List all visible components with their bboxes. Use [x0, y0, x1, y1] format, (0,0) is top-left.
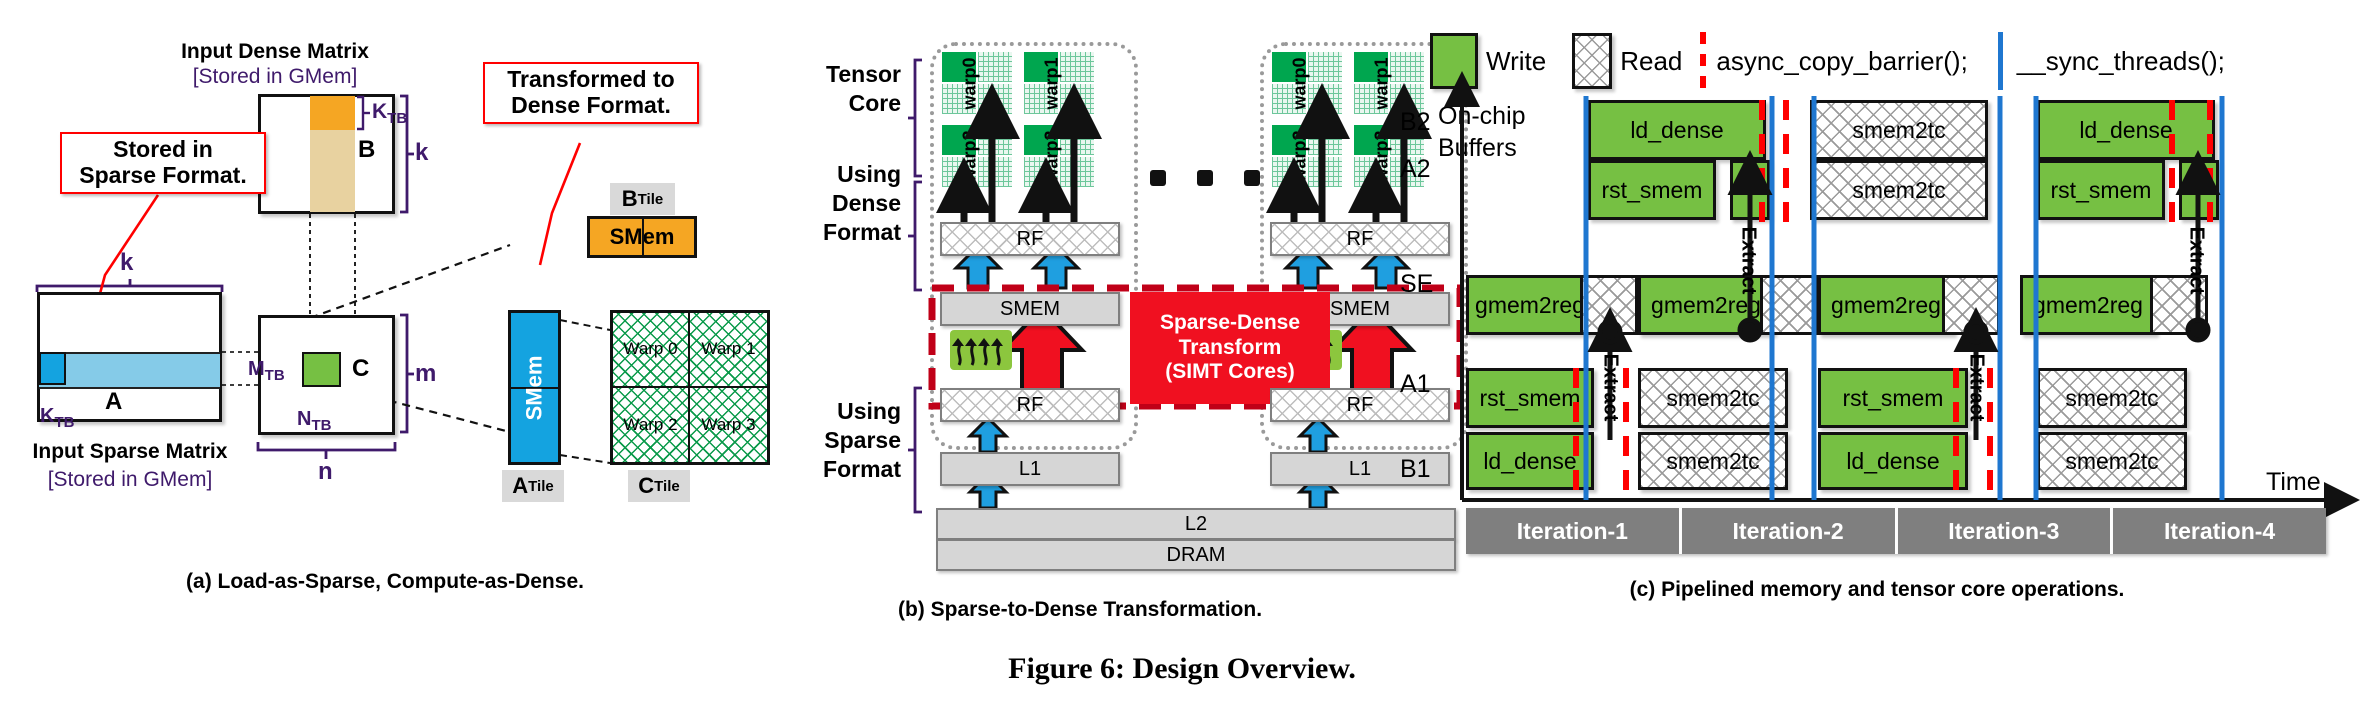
panel-c-caption: (c) Pipelined memory and tensor core ope…	[1390, 578, 2364, 602]
panel-b: TensorCore UsingDenseFormat UsingSparseF…	[770, 0, 1390, 640]
matrix-a-label: A	[105, 388, 122, 416]
panel-a: Input Dense Matrix [Stored in GMem] B	[0, 0, 770, 640]
figure-main-caption: Figure 6: Design Overview.	[0, 652, 2364, 686]
panel-a-caption: (a) Load-as-Sparse, Compute-as-Dense.	[0, 570, 770, 594]
matrix-c-label: C	[352, 355, 369, 383]
dram-bar: DRAM	[936, 539, 1456, 571]
extract-label-2: Extract	[1590, 330, 1630, 445]
ctile-warp-grid: Warp 0 Warp 1 Warp 2 Warp 3	[610, 310, 770, 465]
btile-smem-divider	[642, 216, 644, 258]
matrix-a-row-band	[39, 352, 220, 389]
dim-ktb-b-label: KTB	[372, 100, 407, 127]
dim-n-label: n	[318, 458, 333, 486]
extract-label-3: Extract	[1956, 330, 1996, 445]
rf-bar-dense-sm1: RF	[940, 222, 1120, 256]
warp-cell-2: Warp 2	[613, 388, 690, 463]
warp-cell-3: Warp 3	[690, 388, 767, 463]
l1-bar-sm1: L1	[940, 452, 1120, 486]
dim-ktb-a-label: KTB	[40, 405, 74, 431]
callout-sparse-line2: Sparse Format.	[68, 163, 258, 189]
callout-transformed-dense: Transformed to Dense Format.	[483, 62, 699, 124]
tile-c-label: CTile	[628, 470, 690, 502]
dim-m-label: m	[415, 360, 436, 388]
iteration-cell-3: Iteration-3	[1898, 508, 2114, 554]
iteration-bar: Iteration-1 Iteration-2 Iteration-3 Iter…	[1466, 508, 2326, 554]
rf-bar-sparse-sm1: RF	[940, 388, 1120, 422]
smem-bar-sm1: SMEM	[940, 292, 1120, 326]
sparse-matrix-subtitle: [Stored in GMem]	[10, 468, 250, 492]
tile-b-label: BTile	[610, 183, 675, 215]
simt-core-block-sm1	[950, 330, 1012, 370]
atile-smem-label: SMem	[508, 310, 561, 465]
callout-sparse-line1: Stored in	[68, 137, 258, 163]
iteration-cell-2: Iteration-2	[1682, 508, 1898, 554]
panel-b-caption: (b) Sparse-to-Dense Transformation.	[770, 598, 1390, 622]
warp-cell-0: Warp 0	[613, 313, 690, 388]
callout-stored-sparse: Stored in Sparse Format.	[60, 132, 266, 194]
transform-line-3: (SIMT Cores)	[1165, 360, 1295, 385]
figure-6: Input Dense Matrix [Stored in GMem] B	[0, 0, 2364, 713]
transform-line-1: Sparse-Dense	[1160, 311, 1300, 336]
matrix-a-ktb-cell	[39, 352, 66, 385]
dim-k-a-label: k	[120, 249, 133, 277]
dim-mtb-label: MTB	[248, 358, 285, 384]
l2-bar: L2	[936, 508, 1456, 540]
sparse-matrix-title: Input Sparse Matrix	[10, 440, 250, 464]
transform-line-2: Transform	[1179, 336, 1282, 361]
warp-cell-1: Warp 1	[690, 313, 767, 388]
callout-dense-line2: Dense Format.	[491, 93, 691, 119]
matrix-c-tile-cell	[302, 352, 341, 387]
iteration-cell-1: Iteration-1	[1466, 508, 1682, 554]
extract-label-4: Extract	[2176, 195, 2216, 325]
dim-ntb-label: NTB	[297, 408, 331, 434]
callout-dense-line1: Transformed to	[491, 67, 691, 93]
extract-label-1: Extract	[1728, 195, 1768, 325]
iteration-cell-4: Iteration-4	[2113, 508, 2326, 554]
tile-a-label: ATile	[502, 470, 564, 502]
panel-c: Write Read async_copy_barrier(); __sync_…	[1390, 0, 2364, 640]
dim-k-b-label: k	[415, 139, 428, 167]
